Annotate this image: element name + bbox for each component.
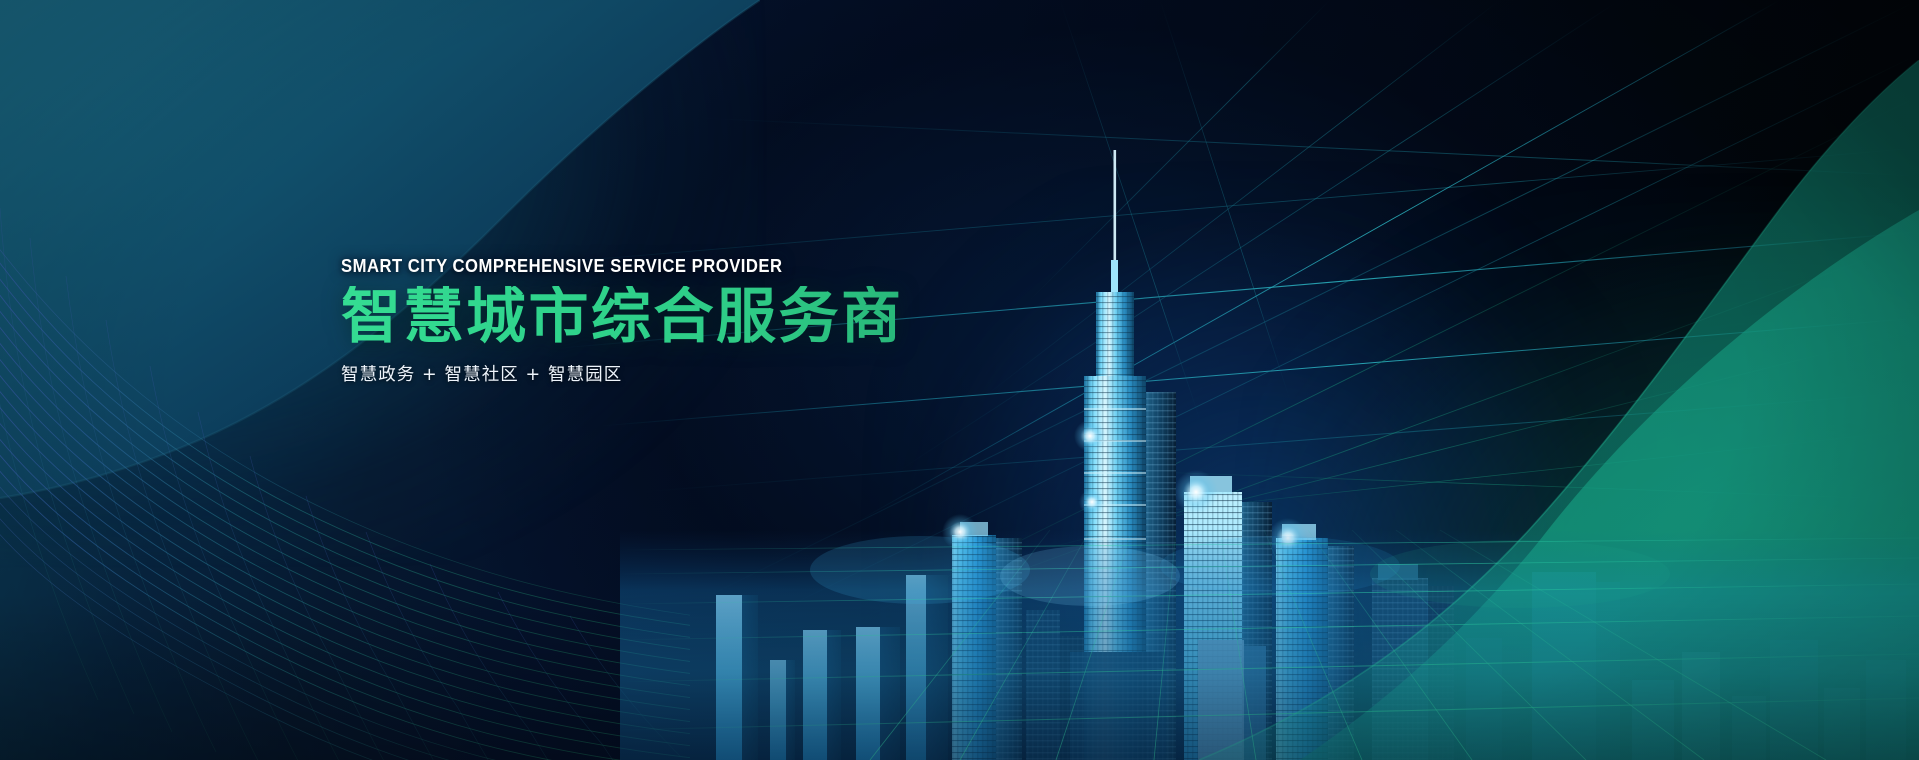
hero-headline: 智慧城市综合服务商 [341,286,1101,348]
green-curve-bottom-right [1199,60,1919,760]
hero-copy-block: SMART CITY COMPREHENSIVE SERVICE PROVIDE… [341,255,1101,386]
hero-eyebrow: SMART CITY COMPREHENSIVE SERVICE PROVIDE… [341,255,1025,277]
hero-subline: 智慧政务 + 智慧社区 + 智慧园区 [341,361,1101,386]
hero-banner: SMART CITY COMPREHENSIVE SERVICE PROVIDE… [0,0,1919,760]
